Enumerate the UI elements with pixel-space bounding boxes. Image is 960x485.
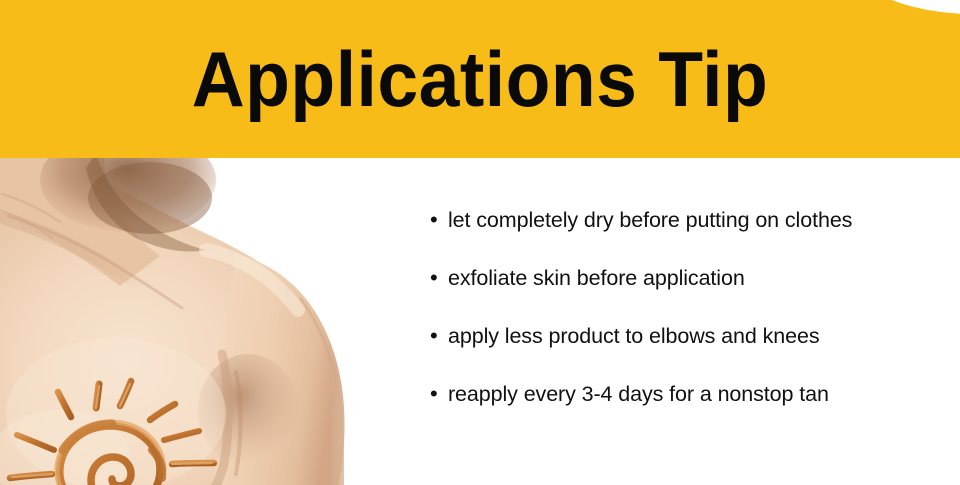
list-item: • exfoliate skin before application xyxy=(430,263,950,321)
tanning-photo xyxy=(0,158,420,485)
bullet-icon: • xyxy=(430,263,448,293)
tanning-photo-illustration xyxy=(0,158,420,485)
tips-list: • let completely dry before putting on c… xyxy=(430,205,950,437)
applications-tip-banner-graphic: Applications Tip xyxy=(0,0,960,485)
list-item: • reapply every 3-4 days for a nonstop t… xyxy=(430,379,950,437)
bullet-icon: • xyxy=(430,379,448,409)
list-item: • let completely dry before putting on c… xyxy=(430,205,950,263)
tip-text: reapply every 3-4 days for a nonstop tan xyxy=(448,379,829,409)
bullet-icon: • xyxy=(430,321,448,351)
list-item: • apply less product to elbows and knees xyxy=(430,321,950,379)
page-title: Applications Tip xyxy=(29,0,931,158)
bullet-icon: • xyxy=(430,205,448,235)
body-silhouette xyxy=(0,158,420,485)
header-banner: Applications Tip xyxy=(0,0,960,158)
tip-text: apply less product to elbows and knees xyxy=(448,321,820,351)
tip-text: exfoliate skin before application xyxy=(448,263,745,293)
tip-text: let completely dry before putting on clo… xyxy=(448,205,852,235)
